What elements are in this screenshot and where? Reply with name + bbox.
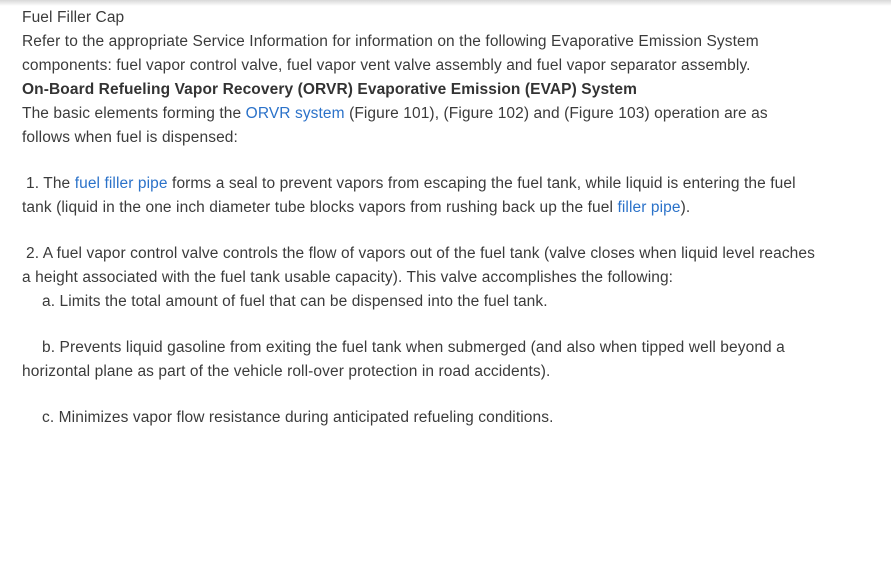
list-item-2-text: A fuel vapor control valve controls the … bbox=[22, 245, 819, 286]
list-item-1-text-c: ). bbox=[681, 199, 691, 216]
paragraph-spacer bbox=[0, 150, 891, 172]
list-item-1-marker: 1. bbox=[26, 175, 43, 192]
document-content: Fuel Filler Cap Refer to the appropriate… bbox=[0, 6, 891, 430]
intro-paragraph: Refer to the appropriate Service Informa… bbox=[0, 30, 891, 78]
filler-pipe-link[interactable]: filler pipe bbox=[617, 199, 680, 216]
list-item-2c: c. Minimizes vapor flow resistance durin… bbox=[0, 406, 891, 430]
basic-elements-text-before: The basic elements forming the bbox=[22, 105, 246, 122]
orvr-system-link[interactable]: ORVR system bbox=[246, 105, 345, 122]
fuel-filler-pipe-link[interactable]: fuel filler pipe bbox=[75, 175, 168, 192]
paragraph-spacer bbox=[0, 314, 891, 336]
list-item-2-marker: 2. bbox=[26, 245, 43, 262]
paragraph-spacer bbox=[0, 384, 891, 406]
paragraph-spacer bbox=[0, 220, 891, 242]
basic-elements-paragraph: The basic elements forming the ORVR syst… bbox=[0, 102, 891, 150]
list-item-2b: b. Prevents liquid gasoline from exiting… bbox=[0, 336, 891, 384]
section-heading: On-Board Refueling Vapor Recovery (ORVR)… bbox=[0, 78, 891, 102]
list-item-1: 1. The fuel filler pipe forms a seal to … bbox=[0, 172, 891, 220]
page-title: Fuel Filler Cap bbox=[0, 6, 891, 30]
list-item-1-text-a: The bbox=[43, 175, 74, 192]
list-item-2: 2. A fuel vapor control valve controls t… bbox=[0, 242, 891, 290]
list-item-2a: a. Limits the total amount of fuel that … bbox=[0, 290, 891, 314]
